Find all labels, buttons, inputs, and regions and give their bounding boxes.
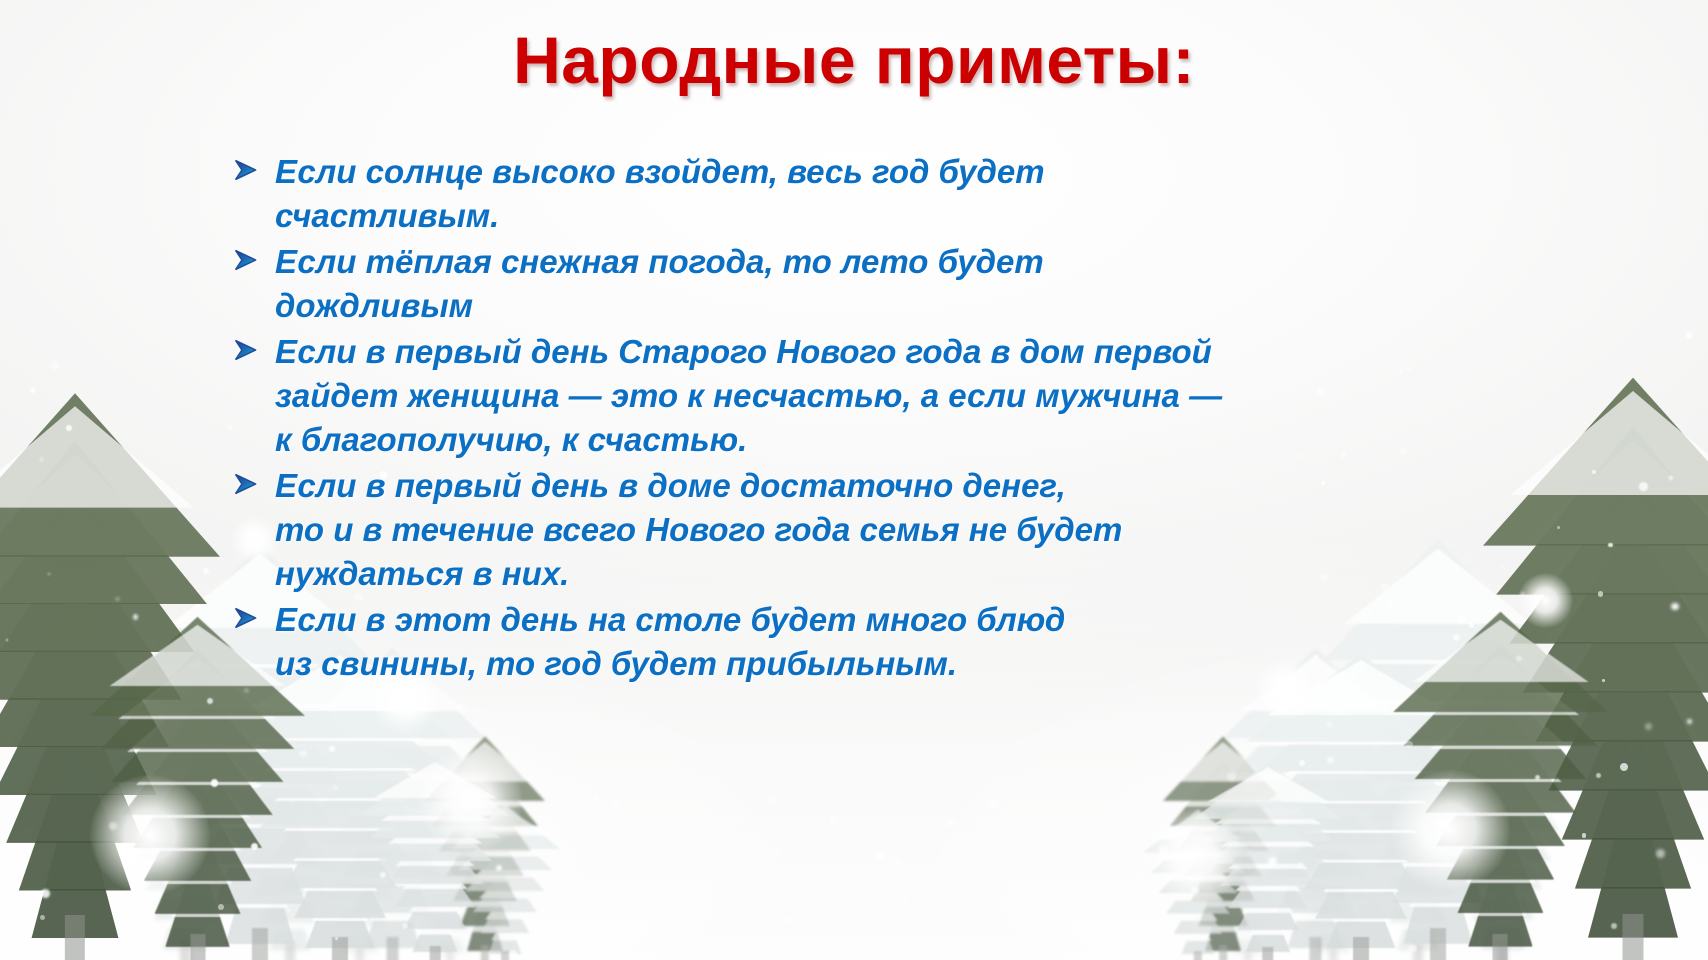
bullet-item: Если в первый день в доме достаточно ден… [228,464,1398,596]
omens-bullet-list: Если солнце высоко взойдет, весь год буд… [228,150,1398,688]
slide-content: Народные приметы: Если солнце высоко взо… [0,0,1708,960]
bullet-text-line: дождливым [275,284,1398,328]
arrowhead-bullet-icon [228,601,262,635]
bullet-text-line: то и в течение всего Нового года семья н… [275,508,1398,552]
bullet-text-line: Если в этот день на столе будет много бл… [275,598,1398,642]
page-title: Народные приметы: [0,22,1708,98]
bullet-item: Если в первый день Старого Нового года в… [228,330,1398,462]
bullet-text-line: Если тёплая снежная погода, то лето буде… [275,240,1398,284]
bullet-text-line: Если солнце высоко взойдет, весь год буд… [275,150,1398,194]
presentation-slide: Народные приметы: Если солнце высоко взо… [0,0,1708,960]
arrowhead-bullet-icon [228,243,262,277]
bullet-text-line: нуждаться в них. [275,552,1398,596]
bullet-text-line: зайдет женщина — это к несчастью, а если… [275,374,1398,418]
bullet-text-line: Если в первый день в доме достаточно ден… [275,464,1398,508]
bullet-text-line: счастливым. [275,194,1398,238]
arrowhead-bullet-icon [228,333,262,367]
bullet-item: Если в этот день на столе будет много бл… [228,598,1398,686]
bullet-text-line: к благополучию, к счастью. [275,418,1398,462]
arrowhead-bullet-icon [228,153,262,187]
arrowhead-bullet-icon [228,467,262,501]
bullet-item: Если тёплая снежная погода, то лето буде… [228,240,1398,328]
bullet-text-line: из свинины, то год будет прибыльным. [275,642,1398,686]
bullet-text-line: Если в первый день Старого Нового года в… [275,330,1398,374]
bullet-item: Если солнце высоко взойдет, весь год буд… [228,150,1398,238]
